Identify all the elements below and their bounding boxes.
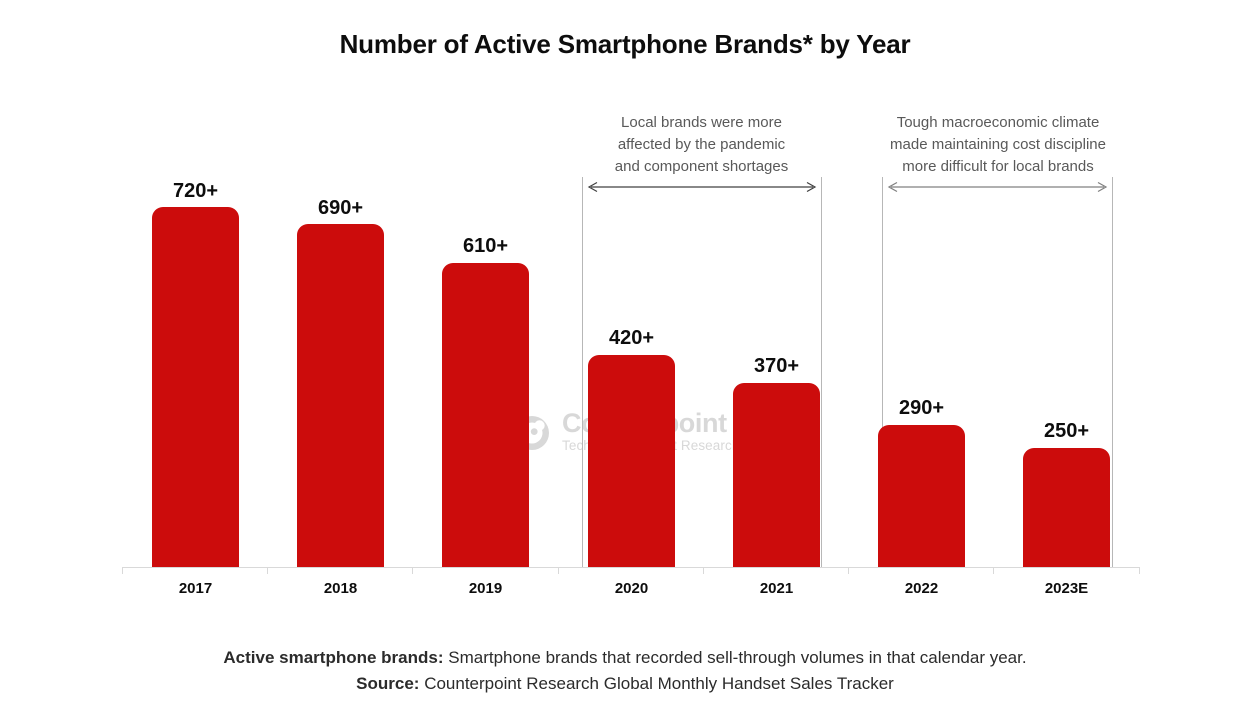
bar-value-2021: 370+ — [731, 355, 822, 378]
bar-value-2019: 610+ — [440, 235, 531, 258]
footer-source-label: Source: — [356, 674, 419, 693]
footer-source: Source: Counterpoint Research Global Mon… — [0, 671, 1250, 697]
x-axis-tick — [848, 567, 849, 574]
annotation-arrow-1 — [583, 181, 821, 193]
x-axis-line — [122, 567, 1140, 568]
bar-2023E[interactable] — [1023, 448, 1110, 567]
x-axis-tick — [267, 567, 268, 574]
annotation-line: Tough macroeconomic climate — [868, 112, 1128, 134]
footer-definition-label: Active smartphone brands: — [223, 648, 443, 667]
x-axis-label-2021: 2021 — [731, 580, 822, 597]
bar-2020[interactable] — [588, 355, 675, 567]
annotation-line: affected by the pandemic — [578, 134, 825, 156]
bar-value-2022: 290+ — [876, 397, 967, 420]
x-axis-tick — [1139, 567, 1140, 574]
plot-area: Counterpoint Technology Market Research … — [0, 0, 1250, 640]
annotation-guide-left-1 — [582, 177, 583, 567]
bar-2018[interactable] — [297, 224, 384, 567]
x-axis-label-2019: 2019 — [440, 580, 531, 597]
chart-root: Number of Active Smartphone Brands* by Y… — [0, 0, 1250, 702]
x-axis-label-2022: 2022 — [876, 580, 967, 597]
bar-2021[interactable] — [733, 383, 820, 567]
x-axis-tick — [703, 567, 704, 574]
x-axis-label-2023E: 2023E — [1021, 580, 1112, 597]
bar-value-2017: 720+ — [150, 180, 241, 203]
bar-value-2018: 690+ — [295, 197, 386, 220]
bar-value-2023E: 250+ — [1021, 420, 1112, 443]
footer-notes: Active smartphone brands: Smartphone bra… — [0, 645, 1250, 697]
annotation-line: more difficult for local brands — [868, 156, 1128, 178]
annotation-text-2: Tough macroeconomic climate made maintai… — [868, 112, 1128, 178]
bar-2022[interactable] — [878, 425, 965, 567]
bar-value-2020: 420+ — [586, 327, 677, 350]
annotation-text-1: Local brands were more affected by the p… — [578, 112, 825, 178]
x-axis-tick — [558, 567, 559, 574]
x-axis-label-2018: 2018 — [295, 580, 386, 597]
annotation-line: Local brands were more — [578, 112, 825, 134]
x-axis-tick — [412, 567, 413, 574]
footer-definition-text: Smartphone brands that recorded sell-thr… — [444, 648, 1027, 667]
x-axis-label-2020: 2020 — [586, 580, 677, 597]
x-axis-tick — [993, 567, 994, 574]
annotation-guide-right-2 — [1112, 177, 1113, 567]
footer-source-text: Counterpoint Research Global Monthly Han… — [419, 674, 893, 693]
annotation-line: made maintaining cost discipline — [868, 134, 1128, 156]
x-axis-tick — [122, 567, 123, 574]
annotation-arrow-2 — [883, 181, 1112, 193]
footer-definition: Active smartphone brands: Smartphone bra… — [0, 645, 1250, 671]
bar-2019[interactable] — [442, 263, 529, 567]
x-axis-label-2017: 2017 — [150, 580, 241, 597]
annotation-line: and component shortages — [578, 156, 825, 178]
bar-2017[interactable] — [152, 207, 239, 567]
